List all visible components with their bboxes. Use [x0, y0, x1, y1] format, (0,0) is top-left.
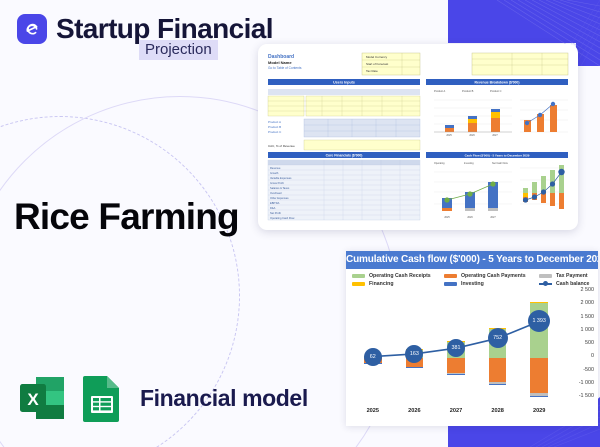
- y-axis-tick-label: 0: [591, 353, 594, 359]
- data-point-marker: 752: [488, 328, 508, 348]
- x-axis-tick-label: 2028: [477, 408, 519, 414]
- legend-item-investing: Investing: [444, 281, 539, 287]
- x-axis-tick-label: 2027: [435, 408, 477, 414]
- data-point-marker: 62: [364, 348, 382, 366]
- svg-text:Product B: Product B: [462, 89, 474, 93]
- svg-text:Product B: Product B: [268, 125, 281, 129]
- svg-text:Salaries & Taxes: Salaries & Taxes: [270, 186, 290, 190]
- legend-swatch-green: [352, 274, 365, 278]
- x-axis-tick-label: 2029: [518, 408, 560, 414]
- chart-y-axis: 2 5002 0001 5001 0005000-500-1 000-1 500: [562, 290, 596, 412]
- y-axis-tick-label: 1 000: [581, 327, 595, 333]
- svg-text:Variable Expenses: Variable Expenses: [270, 176, 292, 180]
- y-axis-tick-label: -500: [583, 367, 594, 373]
- chart-title: Cumulative Cash flow ($'000) - 5 Years t…: [346, 251, 598, 269]
- y-axis-tick-label: -1 500: [579, 393, 594, 399]
- svg-text:Product A: Product A: [434, 89, 446, 93]
- svg-text:2027: 2027: [490, 216, 496, 219]
- svg-text:Overhead: Overhead: [270, 191, 282, 195]
- svg-text:Growth: Growth: [270, 171, 279, 175]
- legend-label: Operating Cash Payments: [461, 273, 526, 279]
- svg-text:Revenue: Revenue: [270, 166, 281, 170]
- microsoft-excel-icon: X: [16, 372, 68, 424]
- top-blue-band: [448, 0, 600, 43]
- legend-label: Financing: [369, 281, 394, 287]
- svg-text:2026: 2026: [469, 134, 475, 137]
- svg-text:2025: 2025: [446, 134, 452, 137]
- chart-x-axis: 20252026202720282029: [352, 408, 560, 418]
- legend-label: Investing: [461, 281, 484, 287]
- svg-text:Other Expenses: Other Expenses: [270, 196, 289, 200]
- svg-text:Product C: Product C: [490, 89, 502, 93]
- svg-text:Go to Table of Contents: Go to Table of Contents: [268, 66, 302, 70]
- legend-swatch-orange: [444, 274, 457, 278]
- legend-item-tax-payment: Tax Payment: [539, 273, 598, 279]
- svg-text:Product A: Product A: [268, 120, 281, 124]
- svg-text:Users Inputs: Users Inputs: [333, 81, 355, 85]
- y-axis-tick-label: 1 500: [581, 314, 595, 320]
- top-right-blue-strip: [576, 0, 600, 66]
- x-axis-tick-label: 2025: [352, 408, 394, 414]
- x-axis-tick-label: 2026: [394, 408, 436, 414]
- svg-text:EBITDA: EBITDA: [270, 201, 280, 205]
- svg-text:Investing: Investing: [464, 162, 474, 165]
- legend-label: Tax Payment: [556, 273, 588, 279]
- y-axis-tick-label: 500: [585, 340, 594, 346]
- y-axis-tick-label: -1 000: [579, 380, 594, 386]
- dashboard-preview-inner: Dashboard Model Name Go to Table of Cont…: [262, 48, 574, 226]
- svg-text:2025: 2025: [444, 216, 450, 219]
- legend-swatch-yellow: [352, 282, 365, 286]
- svg-text:Revenue Breakdown ($'000): Revenue Breakdown ($'000): [475, 81, 520, 85]
- svg-text:Operating Cash Flow: Operating Cash Flow: [270, 216, 294, 220]
- svg-text:Gross Profit: Gross Profit: [270, 181, 284, 185]
- footer-row: X Financial model: [16, 372, 308, 424]
- chart-bars-layer: 621633817521 393: [352, 292, 560, 398]
- legend-swatch-gray: [539, 274, 552, 278]
- svg-text:Operating: Operating: [434, 162, 445, 165]
- dashboard-preview-card: Dashboard Model Name Go to Table of Cont…: [258, 44, 578, 230]
- legend-swatch-blue: [444, 282, 457, 286]
- svg-text:Core Financials ($'000): Core Financials ($'000): [326, 154, 363, 158]
- chart-plot-area: 621633817521 393 2 5002 0001 5001 000500…: [346, 290, 598, 420]
- dashboard-screenshot-graphic: Dashboard Model Name Go to Table of Cont…: [262, 48, 574, 226]
- legend-item-operating-cash-payments: Operating Cash Payments: [444, 273, 539, 279]
- svg-text:Model Currency: Model Currency: [366, 55, 388, 59]
- legend-line-marker: [539, 283, 552, 285]
- footer-label: Financial model: [140, 385, 308, 412]
- projection-badge: Projection: [139, 40, 218, 60]
- svg-text:CAC, % of Revenue: CAC, % of Revenue: [268, 144, 295, 148]
- svg-text:2027: 2027: [492, 134, 498, 137]
- y-axis-tick-label: 2 500: [581, 287, 595, 293]
- svg-text:X: X: [27, 390, 39, 409]
- svg-text:Net Cash Flow: Net Cash Flow: [492, 162, 508, 165]
- page-title: Rice Farming: [14, 196, 239, 238]
- legend-item-operating-cash-receipts: Operating Cash Receipts: [352, 273, 444, 279]
- svg-text:2026: 2026: [467, 216, 473, 219]
- svg-text:Net Profit: Net Profit: [270, 211, 281, 215]
- svg-text:Start of Forecast: Start of Forecast: [366, 62, 388, 66]
- google-sheets-icon: [79, 372, 125, 424]
- swirl-e-logo-icon: [17, 14, 47, 44]
- svg-text:Product C: Product C: [268, 130, 282, 134]
- svg-text:Tax Rate: Tax Rate: [366, 69, 378, 73]
- poster-canvas: Startup Financial Projection Rice Farmin…: [0, 0, 600, 447]
- y-axis-tick-label: 2 000: [581, 300, 595, 306]
- svg-text:D&A: D&A: [270, 206, 276, 210]
- chart-legend: Operating Cash Receipts Operating Cash P…: [346, 269, 598, 290]
- legend-item-financing: Financing: [352, 281, 444, 287]
- cumulative-cashflow-chart-card: Cumulative Cash flow ($'000) - 5 Years t…: [346, 251, 598, 426]
- svg-text:Model Name: Model Name: [268, 60, 292, 65]
- legend-label: Operating Cash Receipts: [369, 273, 431, 279]
